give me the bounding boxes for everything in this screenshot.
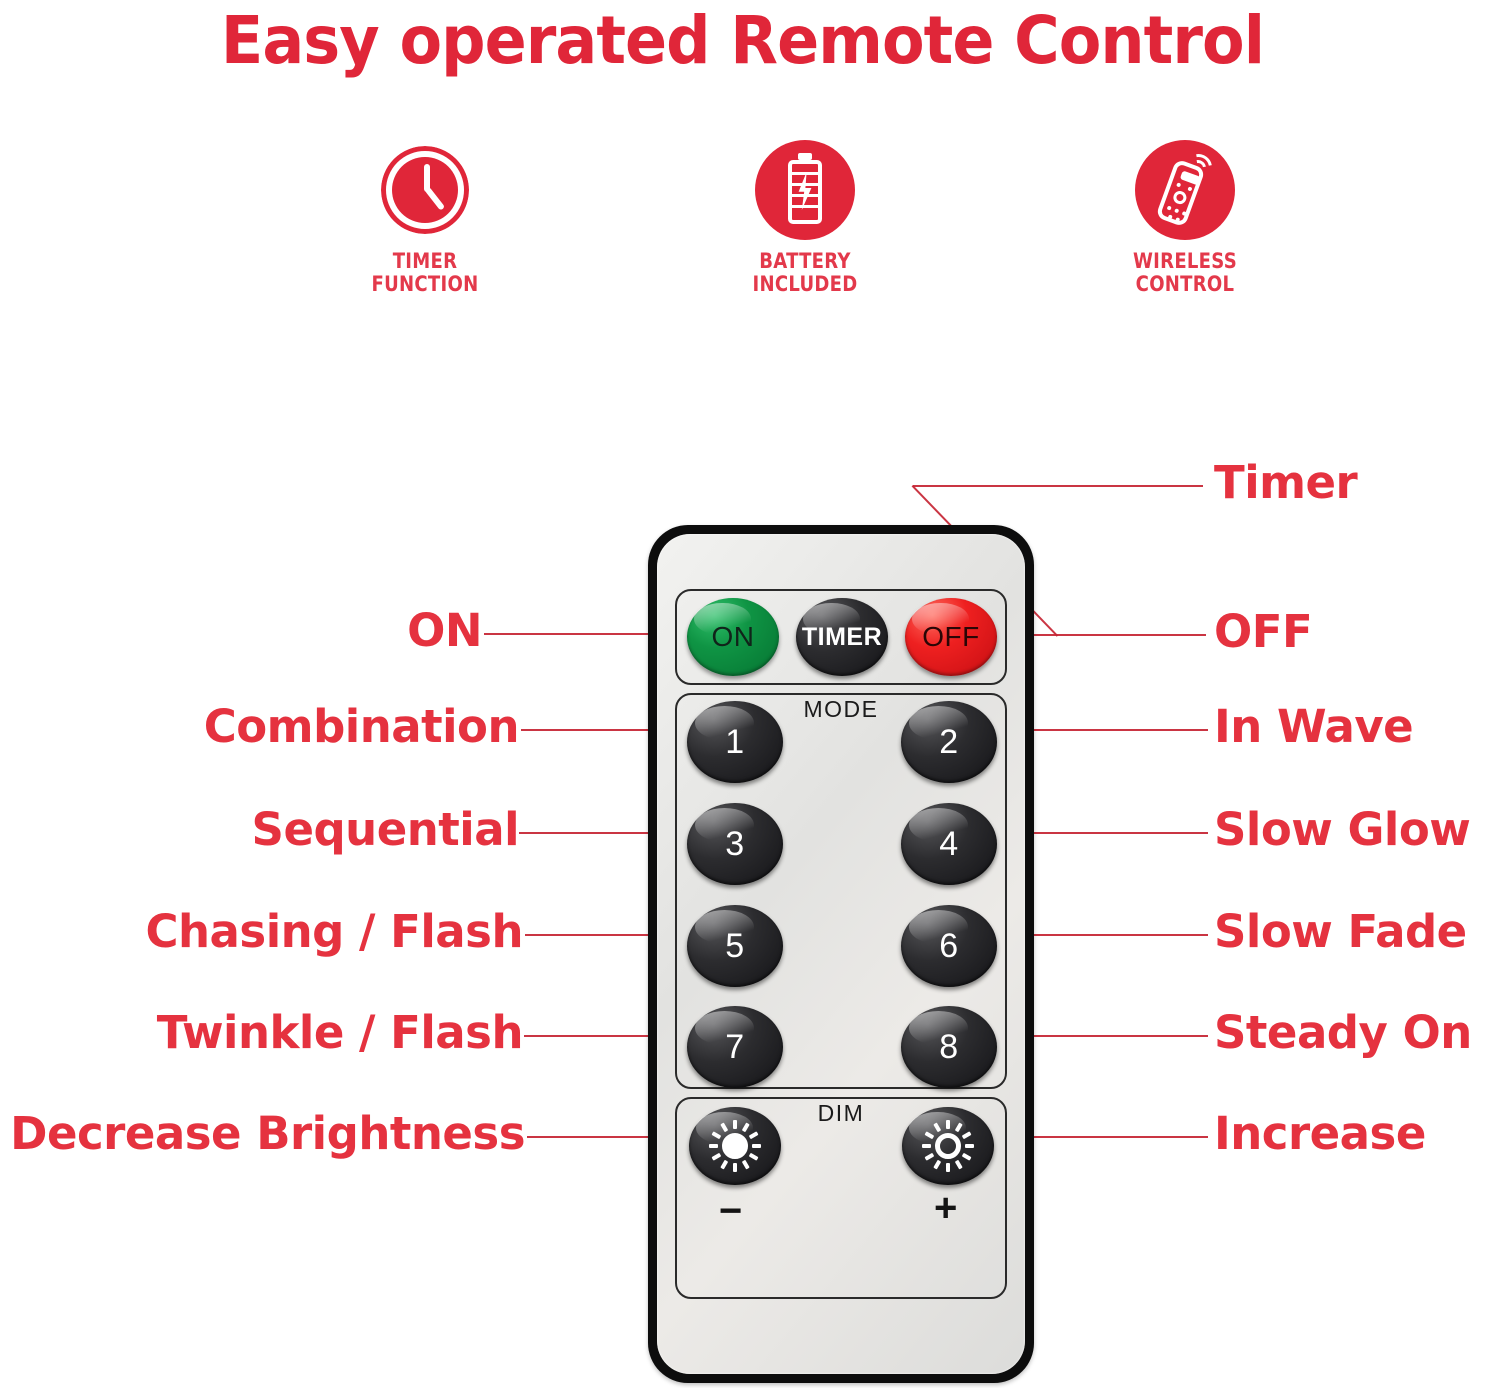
callout-slow-glow: Slow Glow xyxy=(1214,803,1470,856)
feature-timer-function: TIMER FUNCTION xyxy=(295,140,555,296)
sun-hollow-icon xyxy=(922,1120,974,1172)
feature-label: BATTERY INCLUDED xyxy=(693,250,917,296)
sun-filled-icon xyxy=(709,1120,761,1172)
off-button[interactable]: OFF xyxy=(905,598,997,676)
mode-button-1[interactable]: 1 xyxy=(687,701,783,783)
callout-increase: Increase xyxy=(1214,1107,1426,1160)
mode-button-8[interactable]: 8 xyxy=(901,1006,997,1088)
mode-button-2[interactable]: 2 xyxy=(901,701,997,783)
remote-signal-icon xyxy=(1135,140,1235,240)
callout-off: OFF xyxy=(1214,605,1312,658)
timer-button[interactable]: TIMER xyxy=(796,598,888,676)
feature-label: TIMER FUNCTION xyxy=(313,250,537,296)
feature-badges: TIMER FUNCTION BATTERY INCLUDED xyxy=(0,140,1485,320)
callout-sequential: Sequential xyxy=(252,803,519,856)
mode-button-4[interactable]: 4 xyxy=(901,803,997,885)
page-title: Easy operated Remote Control xyxy=(45,2,1441,82)
battery-icon xyxy=(755,140,855,240)
callout-steady-on: Steady On xyxy=(1214,1006,1472,1059)
feature-label: WIRELESS CONTROL xyxy=(1073,250,1297,296)
dim-increase-button[interactable] xyxy=(902,1107,994,1185)
callout-in-wave: In Wave xyxy=(1214,700,1413,753)
leader-timer xyxy=(913,485,1203,487)
mode-button-7[interactable]: 7 xyxy=(687,1006,783,1088)
callout-chasing-flash: Chasing / Flash xyxy=(145,905,523,958)
dim-plus-sign: + xyxy=(934,1186,957,1231)
callout-on: ON xyxy=(407,604,482,657)
clock-icon xyxy=(375,140,475,240)
feature-battery-included: BATTERY INCLUDED xyxy=(675,140,935,296)
callout-decrease-brightness: Decrease Brightness xyxy=(10,1107,525,1160)
mode-button-6[interactable]: 6 xyxy=(901,905,997,987)
remote-face: MODE DIM ON TIMER OFF 1 2 3 4 5 6 7 8 xyxy=(657,534,1025,1374)
remote-control-device: MODE DIM ON TIMER OFF 1 2 3 4 5 6 7 8 xyxy=(648,525,1034,1383)
callout-combination: Combination xyxy=(204,700,519,753)
callout-twinkle-flash: Twinkle / Flash xyxy=(157,1006,523,1059)
mode-button-5[interactable]: 5 xyxy=(687,905,783,987)
feature-wireless-control: WIRELESS CONTROL xyxy=(1055,140,1315,296)
callout-slow-fade: Slow Fade xyxy=(1214,905,1467,958)
callout-timer: Timer xyxy=(1214,456,1357,509)
mode-button-3[interactable]: 3 xyxy=(687,803,783,885)
on-button[interactable]: ON xyxy=(687,598,779,676)
dim-decrease-button[interactable] xyxy=(689,1107,781,1185)
dim-minus-sign: − xyxy=(719,1189,742,1234)
